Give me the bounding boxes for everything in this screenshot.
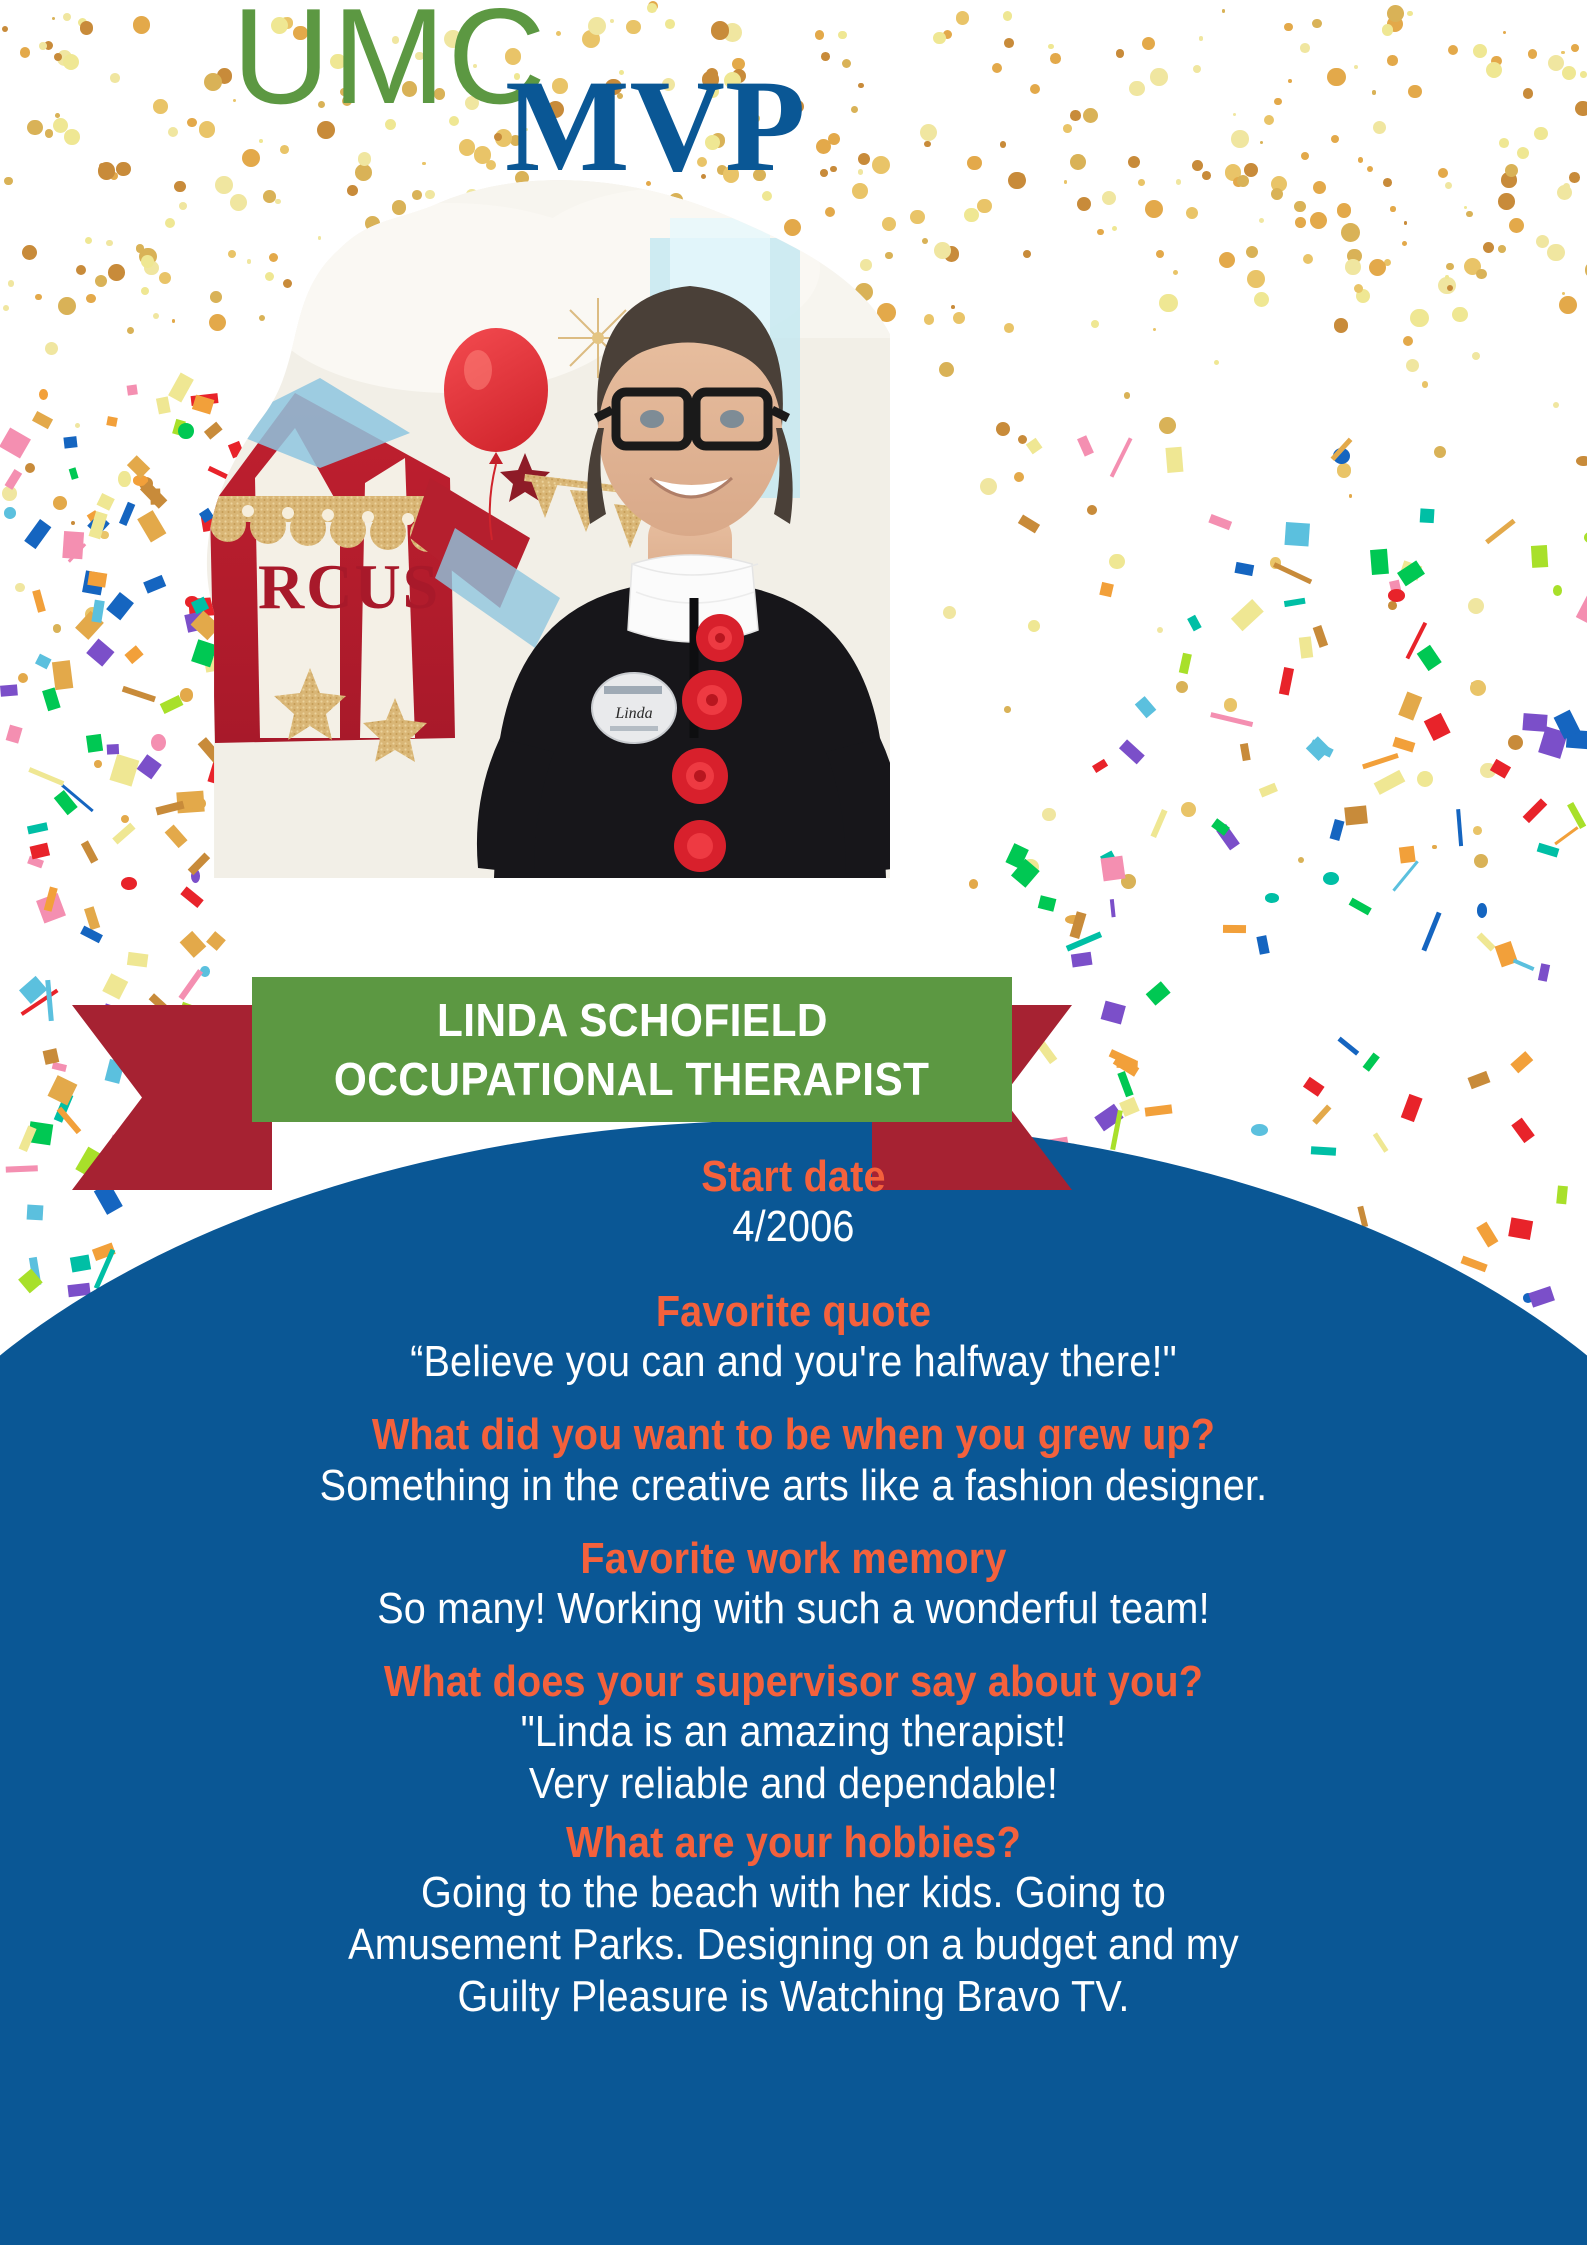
qa-spacer bbox=[0, 2023, 1587, 2031]
confetti-piece bbox=[155, 801, 184, 816]
confetti-piece bbox=[1087, 505, 1097, 515]
brand-umc: UMC bbox=[232, 0, 548, 124]
confetti-piece bbox=[179, 970, 203, 1001]
confetti-piece bbox=[30, 842, 50, 859]
confetti-piece bbox=[35, 654, 52, 670]
confetti-piece bbox=[52, 660, 73, 690]
confetti-piece bbox=[1222, 925, 1245, 933]
confetti-piece bbox=[1576, 593, 1587, 627]
confetti-piece bbox=[102, 973, 128, 999]
confetti-piece bbox=[1100, 851, 1116, 867]
confetti-piece bbox=[1173, 270, 1178, 275]
confetti-piece bbox=[121, 815, 129, 823]
confetti-piece bbox=[1423, 712, 1450, 741]
confetti-piece bbox=[71, 521, 75, 525]
confetti-piece bbox=[1398, 692, 1422, 721]
confetti-piece bbox=[153, 313, 159, 319]
qa-answer-line: Amusement Parks. Designing on a budget a… bbox=[79, 1919, 1507, 1971]
confetti-piece bbox=[1477, 903, 1487, 918]
qa-question: Favorite quote bbox=[79, 1287, 1507, 1336]
confetti-piece bbox=[109, 754, 139, 786]
confetti-piece bbox=[53, 496, 67, 510]
confetti-piece bbox=[1403, 336, 1413, 346]
qa-question: What does your supervisor say about you? bbox=[79, 1657, 1507, 1706]
confetti-piece bbox=[1022, 859, 1039, 876]
confetti-piece bbox=[29, 767, 65, 786]
confetti-piece bbox=[144, 261, 159, 276]
confetti-piece bbox=[127, 952, 148, 968]
confetti-piece bbox=[8, 280, 14, 286]
confetti-piece bbox=[1094, 1104, 1124, 1132]
mvp-photo: Linda RC bbox=[200, 178, 890, 878]
confetti-piece bbox=[1313, 1105, 1332, 1125]
confetti-piece bbox=[1124, 392, 1130, 398]
confetti-piece bbox=[1468, 598, 1484, 614]
confetti-piece bbox=[1026, 437, 1043, 454]
confetti-piece bbox=[149, 489, 160, 505]
confetti-piece bbox=[1419, 508, 1433, 523]
confetti-piece bbox=[87, 639, 116, 667]
qa-question: What are your hobbies? bbox=[79, 1818, 1507, 1867]
confetti-piece bbox=[1091, 320, 1099, 328]
confetti-piece bbox=[1373, 1132, 1389, 1152]
confetti-piece bbox=[1150, 809, 1167, 838]
confetti-piece bbox=[1265, 893, 1279, 903]
confetti-piece bbox=[178, 423, 194, 439]
confetti-piece bbox=[200, 966, 209, 977]
confetti-piece bbox=[1490, 758, 1512, 778]
confetti-piece bbox=[1508, 735, 1523, 750]
confetti-piece bbox=[141, 255, 154, 268]
confetti-piece bbox=[1401, 1094, 1423, 1122]
confetti-piece bbox=[69, 467, 79, 480]
confetti-piece bbox=[1110, 1110, 1123, 1150]
confetti-piece bbox=[1356, 289, 1370, 303]
confetti-piece bbox=[1397, 561, 1425, 587]
qa-spacer bbox=[0, 1512, 1587, 1534]
profile-qa-list: Start date4/2006Favorite quote“Believe y… bbox=[0, 1152, 1587, 2031]
confetti-piece bbox=[1306, 736, 1330, 760]
confetti-piece bbox=[124, 645, 143, 664]
confetti-piece bbox=[1299, 636, 1313, 658]
confetti-piece bbox=[1559, 296, 1577, 314]
confetti-piece bbox=[1004, 323, 1014, 333]
confetti-piece bbox=[1514, 959, 1535, 971]
confetti-piece bbox=[87, 511, 101, 526]
confetti-piece bbox=[1111, 899, 1117, 917]
confetti-piece bbox=[1065, 915, 1082, 925]
confetti-piece bbox=[1470, 680, 1486, 696]
confetti-piece bbox=[1347, 249, 1362, 264]
confetti-piece bbox=[33, 589, 47, 612]
confetti-piece bbox=[151, 734, 166, 751]
confetti-piece bbox=[0, 684, 18, 696]
qa-answer-line: Very reliable and dependable! bbox=[79, 1758, 1507, 1810]
confetti-piece bbox=[1406, 359, 1419, 372]
confetti-piece bbox=[1485, 519, 1515, 544]
confetti-piece bbox=[75, 423, 80, 428]
confetti-piece bbox=[1251, 1124, 1268, 1136]
confetti-piece bbox=[53, 624, 61, 632]
confetti-piece bbox=[1576, 456, 1587, 466]
confetti-piece bbox=[81, 841, 98, 864]
confetti-piece bbox=[1216, 824, 1240, 850]
confetti-piece bbox=[1018, 515, 1040, 534]
qa-question: Favorite work memory bbox=[79, 1534, 1507, 1583]
confetti-piece bbox=[1240, 744, 1251, 762]
qa-spacer bbox=[0, 1810, 1587, 1818]
confetti-piece bbox=[1109, 1048, 1137, 1067]
confetti-piece bbox=[39, 389, 48, 401]
confetti-piece bbox=[1434, 446, 1446, 458]
confetti-piece bbox=[139, 477, 153, 490]
confetti-piece bbox=[1473, 826, 1482, 835]
confetti-piece bbox=[43, 1049, 59, 1065]
confetti-piece bbox=[1369, 259, 1386, 276]
confetti-piece bbox=[1417, 771, 1433, 787]
confetti-piece bbox=[953, 312, 965, 324]
confetti-piece bbox=[1432, 845, 1437, 850]
confetti-piece bbox=[980, 478, 997, 495]
qa-answer-line: "Linda is an amazing therapist! bbox=[79, 1706, 1507, 1758]
confetti-piece bbox=[1234, 562, 1254, 576]
confetti-piece bbox=[1536, 843, 1559, 857]
confetti-piece bbox=[1187, 615, 1201, 632]
confetti-piece bbox=[44, 887, 58, 912]
qa-answer-line: “Believe you can and you're halfway ther… bbox=[79, 1336, 1507, 1388]
confetti-piece bbox=[1303, 254, 1313, 264]
confetti-piece bbox=[1119, 739, 1145, 764]
confetti-piece bbox=[1348, 897, 1372, 915]
confetti-piece bbox=[1116, 1060, 1137, 1069]
confetti-piece bbox=[85, 607, 100, 622]
confetti-piece bbox=[64, 436, 78, 449]
confetti-piece bbox=[1388, 601, 1397, 610]
confetti-piece bbox=[127, 455, 151, 479]
confetti-piece bbox=[1370, 549, 1389, 576]
confetti-piece bbox=[28, 1121, 54, 1145]
confetti-piece bbox=[1038, 896, 1057, 913]
confetti-piece bbox=[28, 822, 49, 834]
confetti-piece bbox=[1071, 952, 1092, 968]
confetti-piece bbox=[1153, 328, 1156, 331]
svg-text:Linda: Linda bbox=[614, 705, 652, 722]
confetti-piece bbox=[1410, 309, 1429, 328]
confetti-piece bbox=[1159, 294, 1177, 312]
confetti-piece bbox=[1176, 681, 1188, 693]
confetti-piece bbox=[1392, 860, 1419, 891]
confetti-piece bbox=[35, 294, 42, 301]
confetti-piece bbox=[1178, 652, 1191, 674]
confetti-piece bbox=[1474, 854, 1489, 869]
qa-question: What did you want to be when you grew up… bbox=[79, 1410, 1507, 1459]
confetti-piece bbox=[1539, 726, 1569, 758]
confetti-piece bbox=[18, 976, 47, 1005]
confetti-piece bbox=[46, 980, 54, 1021]
confetti-piece bbox=[1018, 435, 1027, 444]
confetti-piece bbox=[86, 294, 95, 303]
confetti-piece bbox=[108, 264, 125, 281]
confetti-piece bbox=[1472, 352, 1480, 360]
confetti-piece bbox=[1337, 463, 1351, 477]
mvp-title: OCCUPATIONAL THERAPIST bbox=[334, 1050, 930, 1109]
confetti-piece bbox=[181, 931, 207, 957]
confetti-piece bbox=[180, 688, 194, 702]
confetti-piece bbox=[1537, 964, 1550, 983]
confetti-piece bbox=[1028, 620, 1040, 632]
confetti-piece bbox=[1389, 580, 1401, 593]
confetti-piece bbox=[1393, 737, 1416, 753]
confetti-piece bbox=[1159, 417, 1176, 434]
confetti-piece bbox=[1312, 625, 1327, 648]
confetti-piece bbox=[1256, 935, 1269, 954]
confetti-piece bbox=[1309, 740, 1333, 758]
confetti-piece bbox=[1145, 1104, 1173, 1116]
confetti-piece bbox=[107, 744, 119, 755]
confetti-piece bbox=[1330, 819, 1345, 841]
confetti-piece bbox=[1219, 252, 1235, 268]
confetti-piece bbox=[180, 886, 203, 907]
confetti-piece bbox=[1476, 269, 1487, 280]
confetti-piece bbox=[172, 319, 176, 323]
confetti-piece bbox=[127, 327, 135, 335]
confetti-piece bbox=[168, 373, 194, 403]
confetti-piece bbox=[121, 877, 137, 890]
confetti-piece bbox=[18, 1125, 36, 1152]
confetti-piece bbox=[1362, 753, 1398, 769]
confetti-piece bbox=[1468, 1071, 1491, 1089]
confetti-piece bbox=[1494, 941, 1517, 967]
confetti-piece bbox=[951, 305, 955, 309]
confetti-piece bbox=[943, 606, 956, 619]
confetti-piece bbox=[36, 893, 66, 923]
confetti-piece bbox=[18, 673, 28, 683]
confetti-piece bbox=[1446, 263, 1454, 271]
confetti-piece bbox=[1323, 872, 1339, 885]
confetti-piece bbox=[1511, 1051, 1534, 1073]
confetti-piece bbox=[1157, 627, 1163, 633]
confetti-piece bbox=[94, 760, 102, 768]
confetti-piece bbox=[1117, 1071, 1133, 1097]
qa-answer-line: Something in the creative arts like a fa… bbox=[79, 1460, 1507, 1512]
confetti-piece bbox=[54, 790, 77, 815]
confetti-piece bbox=[1567, 802, 1586, 829]
confetti-piece bbox=[4, 507, 17, 519]
confetti-piece bbox=[1101, 1001, 1126, 1025]
confetti-piece bbox=[5, 469, 22, 490]
qa-spacer bbox=[0, 1635, 1587, 1657]
confetti-piece bbox=[1065, 932, 1101, 952]
confetti-piece bbox=[1447, 285, 1453, 291]
confetti-piece bbox=[1553, 402, 1560, 409]
confetti-piece bbox=[45, 342, 58, 355]
confetti-piece bbox=[1333, 448, 1350, 464]
brand-wordmark: UMC MVP bbox=[0, 0, 1587, 250]
confetti-piece bbox=[1011, 859, 1040, 888]
qa-answer-line: So many! Working with such a wonderful t… bbox=[79, 1583, 1507, 1635]
confetti-piece bbox=[1181, 802, 1196, 817]
confetti-piece bbox=[1523, 713, 1548, 732]
name-plate: LINDA SCHOFIELD OCCUPATIONAL THERAPIST bbox=[252, 977, 1012, 1122]
confetti-piece bbox=[1554, 827, 1578, 846]
confetti-piece bbox=[1349, 494, 1353, 498]
confetti-piece bbox=[1421, 912, 1441, 952]
confetti-piece bbox=[1531, 544, 1548, 567]
confetti-piece bbox=[1464, 258, 1481, 275]
confetti-piece bbox=[87, 570, 107, 587]
confetti-piece bbox=[1562, 292, 1565, 295]
confetti-piece bbox=[1070, 911, 1087, 939]
confetti-piece bbox=[87, 514, 109, 536]
qa-answer-line: 4/2006 bbox=[79, 1201, 1507, 1253]
confetti-piece bbox=[1210, 712, 1253, 727]
confetti-piece bbox=[172, 418, 186, 435]
confetti-piece bbox=[25, 463, 36, 474]
confetti-piece bbox=[51, 1061, 67, 1072]
confetti-piece bbox=[1399, 845, 1416, 863]
confetti-piece bbox=[137, 510, 167, 543]
confetti-piece bbox=[143, 575, 166, 594]
confetti-piece bbox=[939, 362, 954, 377]
confetti-piece bbox=[1224, 698, 1237, 711]
confetti-piece bbox=[3, 305, 9, 311]
confetti-piece bbox=[1259, 784, 1278, 798]
confetti-piece bbox=[1523, 798, 1548, 823]
confetti-piece bbox=[1004, 706, 1011, 713]
confetti-piece bbox=[1120, 1097, 1140, 1117]
confetti-piece bbox=[1214, 360, 1219, 365]
confetti-piece bbox=[139, 248, 156, 265]
qa-answer-line: Guilty Pleasure is Watching Bravo TV. bbox=[79, 1971, 1507, 2023]
confetti-piece bbox=[1344, 805, 1368, 826]
confetti-piece bbox=[76, 265, 86, 275]
confetti-piece bbox=[15, 583, 25, 593]
confetti-piece bbox=[206, 931, 226, 951]
confetti-piece bbox=[75, 611, 104, 640]
confetti-piece bbox=[996, 422, 1010, 436]
confetti-piece bbox=[164, 825, 187, 849]
confetti-piece bbox=[1456, 809, 1463, 846]
confetti-piece bbox=[1042, 808, 1055, 821]
confetti-piece bbox=[100, 531, 108, 539]
confetti-piece bbox=[113, 823, 136, 845]
confetti-piece bbox=[155, 396, 170, 415]
confetti-piece bbox=[159, 695, 183, 714]
confetti-piece bbox=[1374, 770, 1405, 795]
confetti-piece bbox=[159, 272, 172, 285]
confetti-piece bbox=[1099, 582, 1113, 598]
confetti-piece bbox=[140, 481, 168, 509]
confetti-piece bbox=[1417, 645, 1442, 672]
confetti-piece bbox=[1354, 284, 1363, 293]
confetti-piece bbox=[122, 686, 156, 703]
svg-text:RCUS: RCUS bbox=[258, 551, 440, 622]
confetti-piece bbox=[1406, 622, 1428, 659]
confetti-piece bbox=[24, 518, 51, 548]
confetti-piece bbox=[91, 599, 105, 622]
confetti-piece bbox=[1553, 585, 1563, 596]
confetti-piece bbox=[1471, 682, 1475, 686]
confetti-piece bbox=[1345, 259, 1360, 274]
confetti-piece bbox=[1113, 1056, 1139, 1077]
confetti-piece bbox=[1553, 710, 1580, 740]
confetti-piece bbox=[97, 493, 115, 511]
confetti-piece bbox=[20, 989, 58, 1016]
confetti-piece bbox=[68, 543, 87, 563]
confetti-piece bbox=[1156, 250, 1164, 258]
brand-mvp: MVP bbox=[505, 60, 806, 192]
qa-question: Start date bbox=[79, 1152, 1507, 1201]
confetti-piece bbox=[106, 592, 134, 620]
confetti-piece bbox=[1092, 758, 1108, 772]
confetti-piece bbox=[58, 297, 76, 315]
confetti-piece bbox=[1134, 696, 1156, 718]
confetti-piece bbox=[1254, 292, 1269, 307]
confetti-piece bbox=[84, 906, 100, 930]
confetti-piece bbox=[1476, 931, 1496, 951]
confetti-piece bbox=[1330, 438, 1352, 461]
confetti-piece bbox=[86, 734, 103, 753]
confetti-piece bbox=[27, 855, 44, 868]
confetti-piece bbox=[43, 687, 61, 711]
confetti-piece bbox=[88, 511, 107, 540]
confetti-piece bbox=[1247, 270, 1265, 288]
confetti-piece bbox=[1145, 981, 1170, 1005]
confetti-piece bbox=[1304, 1077, 1325, 1097]
confetti-piece bbox=[82, 570, 105, 595]
confetti-piece bbox=[1399, 560, 1422, 581]
confetti-piece bbox=[1512, 1118, 1536, 1144]
mvp-poster: Linda RC bbox=[0, 0, 1587, 2245]
confetti-piece bbox=[1110, 437, 1133, 478]
confetti-piece bbox=[141, 287, 149, 295]
confetti-piece bbox=[1337, 1037, 1359, 1056]
confetti-piece bbox=[1208, 514, 1232, 530]
qa-spacer bbox=[0, 1388, 1587, 1410]
confetti-piece bbox=[62, 531, 84, 559]
confetti-piece bbox=[137, 755, 162, 780]
confetti-piece bbox=[185, 596, 199, 608]
confetti-piece bbox=[106, 416, 118, 427]
confetti-piece bbox=[61, 784, 94, 812]
confetti-piece bbox=[1284, 522, 1310, 546]
confetti-piece bbox=[1566, 729, 1587, 749]
confetti-piece bbox=[1422, 381, 1429, 388]
confetti-piece bbox=[1452, 307, 1467, 322]
mvp-name: LINDA SCHOFIELD bbox=[437, 991, 828, 1050]
confetti-piece bbox=[1362, 1052, 1379, 1071]
confetti-piece bbox=[1023, 250, 1031, 258]
confetti-piece bbox=[1285, 598, 1306, 607]
confetti-piece bbox=[1438, 277, 1455, 294]
confetti-piece bbox=[118, 471, 130, 488]
photo-illustration: Linda RC bbox=[200, 178, 890, 878]
confetti-piece bbox=[1121, 874, 1136, 889]
confetti-piece bbox=[1231, 599, 1264, 631]
confetti-piece bbox=[1270, 557, 1282, 569]
confetti-piece bbox=[6, 724, 23, 743]
confetti-piece bbox=[191, 869, 201, 883]
confetti-piece bbox=[1480, 763, 1495, 778]
confetti-piece bbox=[126, 384, 137, 395]
confetti-piece bbox=[1445, 275, 1449, 279]
confetti-piece bbox=[1006, 844, 1029, 869]
confetti-piece bbox=[1298, 857, 1304, 863]
confetti-piece bbox=[1109, 554, 1124, 569]
confetti-piece bbox=[80, 926, 103, 944]
confetti-piece bbox=[969, 879, 979, 889]
confetti-piece bbox=[54, 1092, 74, 1122]
